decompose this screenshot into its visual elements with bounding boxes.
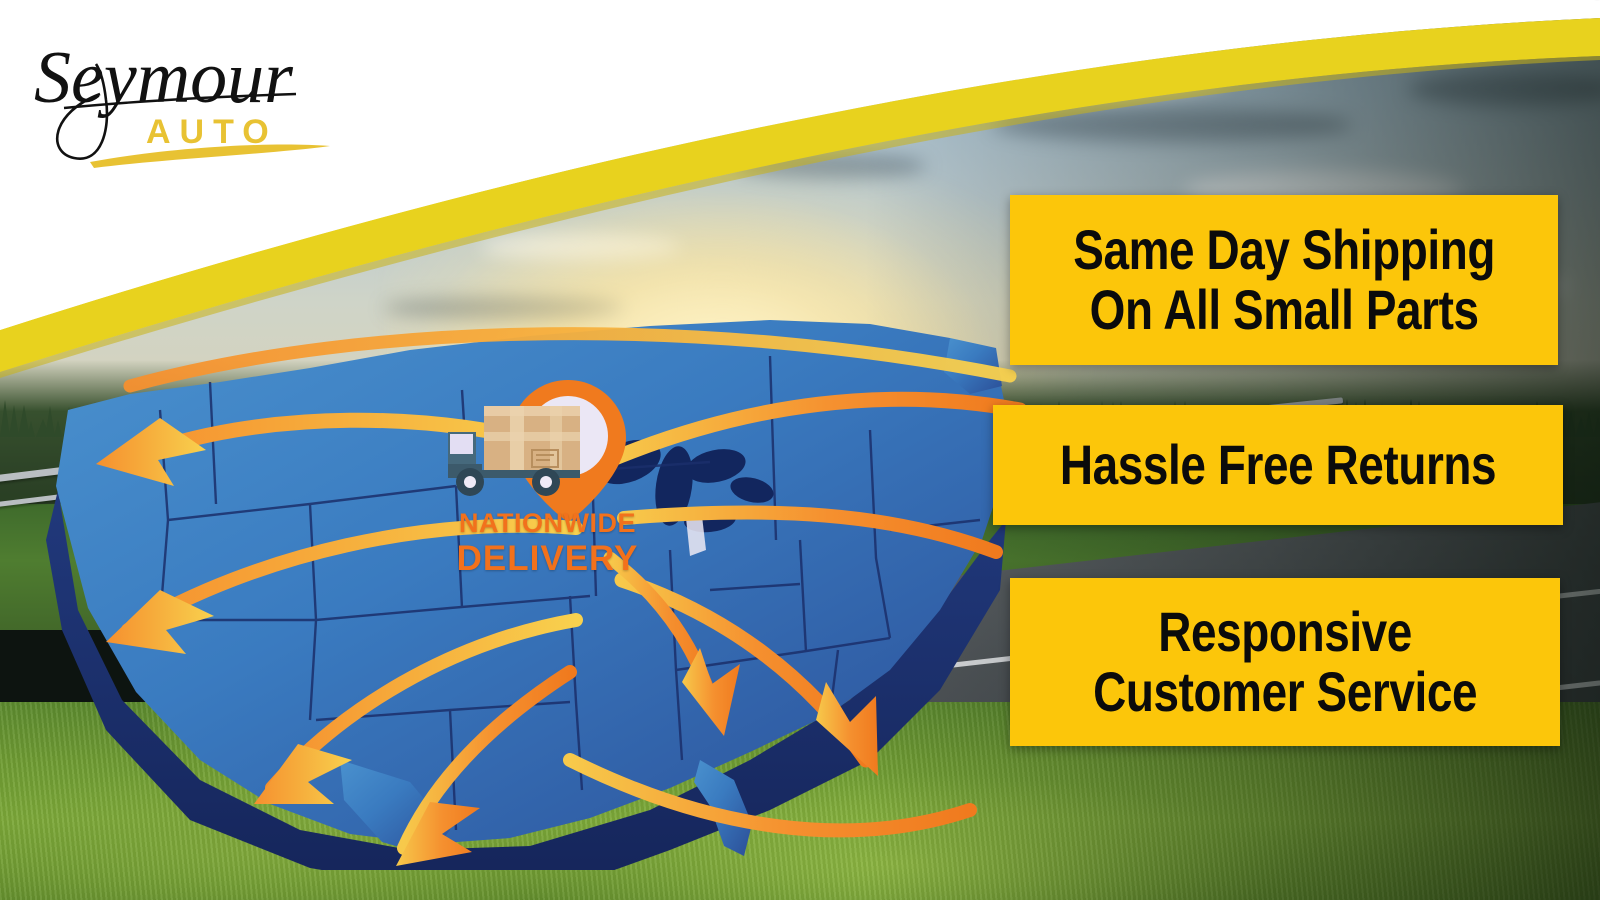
label-line-1: NATIONWIDE (440, 510, 655, 537)
nationwide-delivery-label: NATIONWIDE DELIVERY (440, 510, 655, 576)
brand-logo[interactable]: Seymour AUTO (28, 16, 348, 171)
label-line-2: DELIVERY (440, 541, 655, 576)
promo-panel-hassle-free-returns[interactable]: Hassle Free Returns (993, 405, 1563, 525)
promo-panel-text: Hassle Free Returns (1060, 435, 1496, 495)
promo-panel-text: Responsive Customer Service (1093, 602, 1477, 723)
promo-banner: Seymour AUTO (0, 0, 1600, 900)
promo-panel-same-day-shipping[interactable]: Same Day Shipping On All Small Parts (1010, 195, 1558, 365)
promo-panel-responsive-customer-service[interactable]: Responsive Customer Service (1010, 578, 1560, 746)
promo-panel-text: Same Day Shipping On All Small Parts (1073, 220, 1495, 341)
delivery-graphic: NATIONWIDE DELIVERY (440, 370, 670, 585)
